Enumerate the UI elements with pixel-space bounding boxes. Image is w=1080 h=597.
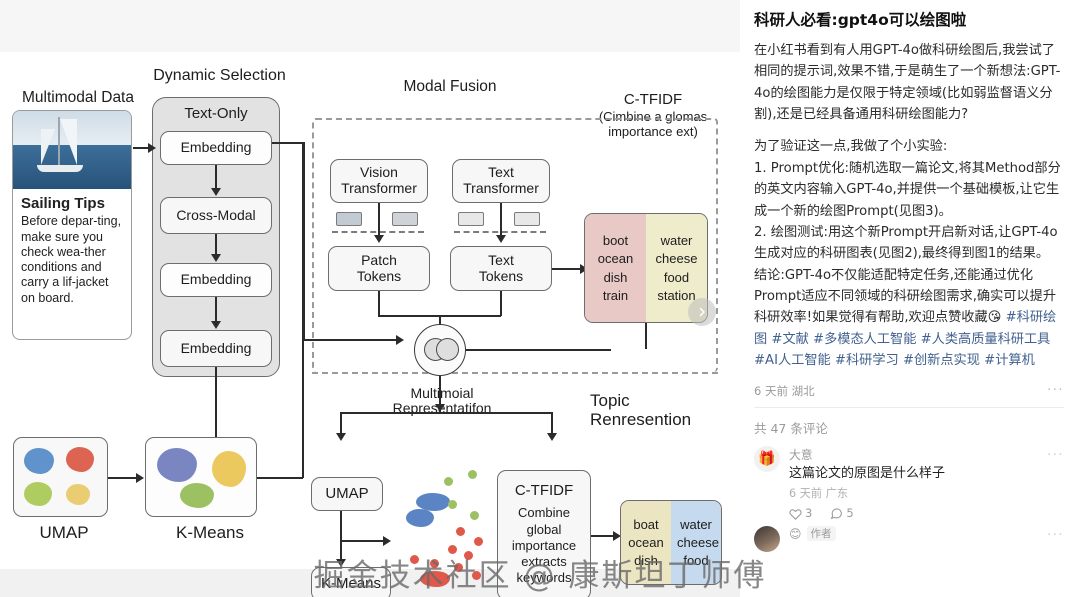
word-top-left-1: ocean [587,250,644,267]
node-text-transformer: Text Transformer [452,159,550,203]
experiment-step-2: 2. 绘图测试:用这个新Prompt开启新对话,让GPT-4o生成对应的科研图表… [754,225,1058,261]
node-cross-modal: Cross-Modal [160,197,272,234]
node-embedding-3: Embedding [160,330,272,367]
hashtag-1[interactable]: #文献 [771,332,808,347]
caption-topic-representation: Topic Renresention [590,392,730,429]
post-body: 在小红书看到有人用GPT-4o做科研绘图后,我尝试了相同的提示词,效果不错,于是… [754,40,1064,372]
post-detail-page: Multimodal Data Dynamic Selection Modal … [0,0,1080,597]
embedding-2-label: Embedding [181,272,252,288]
kmeans-scatter-panel [145,437,257,517]
comment-1-main: 大意 这篇论文的原图是什么样子 6 天前 广东 3 5 [789,446,1064,521]
research-pipeline-figure: Multimodal Data Dynamic Selection Modal … [0,52,740,569]
hashtag-4[interactable]: #AI人工智能 [754,353,831,368]
cluster-point-red-1 [456,527,465,536]
text-only-label: Text-Only [184,106,247,123]
umap-cluster-blue [24,448,54,474]
comment-1-time: 6 天前 [789,487,822,500]
post-title: 科研人必看:gpt4o可以绘图啦 [754,10,1064,31]
vision-transformer-line1: Vision [360,165,398,181]
word-top-left-2: dish [587,269,644,286]
word-table-top-left-column: boot ocean dish train [585,214,646,322]
comment-1-location: 广东 [826,487,848,500]
umap-cluster-green [24,482,52,506]
comment-1-reply-button[interactable]: 5 [830,506,853,520]
node-embedding-2: Embedding [160,263,272,297]
cluster-point-green-1 [444,477,453,486]
caption-multimodal-data: Multimodal Data [8,89,148,106]
umap-cluster-yellow [66,484,90,505]
ctfidf-bottom-title: C-TFIDF [515,483,573,500]
post-meta: 6 天前 湖北 ··· [754,383,1064,399]
gift-icon[interactable]: 🎁 [754,446,780,472]
post-more-button[interactable]: ··· [1047,383,1064,398]
caption-umap-bottom: UMAP [14,524,114,543]
comment-1-like-count: 3 [805,506,812,520]
texttok-down [500,291,502,316]
comment-1-username[interactable]: 大意 [789,446,1064,463]
modal-fusion-dashed-bottom [312,372,718,374]
arrowhead-umap-to-scatter [383,536,391,546]
comment-1-text: 这篇论文的原图是什么样子 [789,465,1064,484]
text-transformer-line2: Transformer [463,181,539,197]
text-token-square-2 [514,212,540,226]
fusion-inner-circle-right [436,338,459,361]
heart-icon [789,507,802,520]
hashtag-5[interactable]: #科研学习 [835,353,899,368]
post-comments-divider [754,407,1064,408]
arrowhead-split-left [336,433,346,441]
post-time: 6 天前 [754,383,788,399]
node-vision-transformer: Vision Transformer [330,159,428,203]
word-top-right-0: water [648,232,705,249]
cluster-point-red-2 [474,537,483,546]
umap-cluster-red [66,447,94,472]
arrow-umappanel-to-kmeanspanel [108,477,139,479]
node-patch-tokens: Patch Tokens [328,246,430,291]
arrow-vision-to-patch [378,203,380,236]
author-badge: 作者 [807,526,836,541]
site-watermark: 掘金技术社区 @ 康斯坦丁师傅 [0,550,1080,595]
embedding-1-label: Embedding [181,140,252,156]
comment-item-1: 🎁 大意 这篇论文的原图是什么样子 6 天前 广东 3 5 [754,446,1064,521]
cross-modal-label: Cross-Modal [176,208,255,224]
word-bottom-left-1: ocean [623,534,669,551]
caption-kmeans-bottom: K-Means [145,524,275,543]
kmeans-blob-purple [157,448,197,482]
text-tokens-line2: Tokens [479,269,523,285]
smile-emoji-icon: 😊 [789,527,802,541]
post-location: 湖北 [792,383,815,399]
kmeans-blobs [146,438,258,518]
fusion-right-line [466,349,611,351]
post-paragraph-1: 在小红书看到有人用GPT-4o做科研绘图后,我尝试了相同的提示词,效果不错,于是… [754,40,1064,126]
branch-emb1-right [272,142,304,144]
word-bottom-right-1: cheese [673,534,719,551]
node-umap-bottom: UMAP [311,477,383,511]
experiment-step-1: 1. Prompt优化:随机选取一篇论文,将其Method部分的英文内容输入GP… [754,161,1061,219]
arrowhead-emb1-cross [211,188,221,196]
kmeans-blob-yellow [212,451,246,487]
ctfidf-top-title: C-TFIDF [578,92,728,109]
sailing-tips-title: Sailing Tips [21,195,124,213]
umap-node-label: UMAP [325,486,368,503]
comments-count-label: 共 47 条评论 [754,418,1064,437]
kiss-emoji: 😘 [988,310,1002,325]
patch-tokens-line1: Patch [361,253,397,269]
arrowhead-bottom-main [435,404,445,412]
patch-tokens-line2: Tokens [357,269,401,285]
topic-rep-line2: Renresention [590,411,730,430]
gift-avatar-glyph: 🎁 [758,451,775,467]
node-embedding-1: Embedding [160,131,272,165]
multimodal-rep-line1: Multimoial [368,386,516,401]
text-tokens-line1: Text [488,253,514,269]
cluster-point-green-2 [468,470,477,479]
hashtag-3[interactable]: #人类高质量科研工具 [921,332,1051,347]
topic-rep-line1: Topic [590,392,730,411]
user-photo-avatar[interactable] [754,526,780,552]
comment-1-subinfo: 6 天前 广东 [789,485,1064,501]
text-token-square-1 [458,212,484,226]
cluster-point-green-4 [470,511,479,520]
text-transformer-line1: Text [488,165,514,181]
word-bottom-left-0: boat [623,516,669,533]
umap-scatter-panel [13,437,108,517]
comment-1-reply-count: 5 [846,506,853,520]
arrowhead-cross-emb2 [211,254,221,262]
hashtag-2[interactable]: #多模态人工智能 [813,332,916,347]
comment-bubble-icon [830,507,843,520]
arrow-text-to-texttokens [500,203,502,236]
kmeans-blob-green [180,483,214,508]
word-top-right-2: food [648,269,705,286]
cluster-blob-blue-2 [406,509,434,527]
arrowhead-split-right [547,433,557,441]
comment-2-username[interactable]: 😊 作者 [789,526,1064,541]
arrowhead-umappanel-to-kmeanspanel [136,473,144,483]
kmeans-right-link [257,477,303,479]
experiment-intro: 为了验证这一点,我做了个小实验: [754,139,947,154]
sailboat-photo [13,111,131,189]
carousel-next-button[interactable] [688,298,716,326]
hashtag-7[interactable]: #计算机 [984,353,1035,368]
cluster-point-green-3 [448,500,457,509]
vision-token-square-2 [392,212,418,226]
arrow-emb1-cross [215,165,217,189]
word-top-left-3: train [587,287,644,304]
comment-1-actions: 3 5 [789,506,1064,520]
post-image-carousel[interactable]: Multimodal Data Dynamic Selection Modal … [0,0,740,597]
vision-token-square-1 [336,212,362,226]
word-top-left-0: boot [587,232,644,249]
arrowhead-emb2-emb3 [211,321,221,329]
chevron-right-icon [696,306,708,318]
caption-modal-fusion: Modal Fusion [375,78,525,95]
kmeans-right-up [302,142,304,478]
post-paragraph-2: 为了验证这一点,我做了个小实验: 1. Prompt优化:随机选取一篇论文,将其… [754,136,1064,371]
arrowhead-card-to-embedding [148,143,156,153]
vision-transformer-line2: Transformer [341,181,417,197]
comment-item-2: 😊 作者 ··· [754,526,1064,552]
bottom-split [340,412,552,414]
post-content-panel: 科研人必看:gpt4o可以绘图啦 在小红书看到有人用GPT-4o做科研绘图后,我… [740,0,1080,597]
sailing-tips-body: Before depar-ting, make sure you check w… [21,214,121,304]
comment-1-more-button[interactable]: ··· [1047,448,1064,463]
arrowhead-text-to-texttokens [496,235,506,243]
embedding-3-label: Embedding [181,341,252,357]
comment-2-main: 😊 作者 [789,526,1064,552]
arrowhead-vision-to-patch [374,235,384,243]
node-text-tokens: Text Tokens [450,246,552,291]
multimodal-data-card: Sailing Tips Before depar-ting, make sur… [12,110,132,340]
word-top-right-1: cheese [648,250,705,267]
sailing-tips-text: Sailing Tips Before depar-ting, make sur… [13,189,131,313]
umap-scatter-points [14,438,109,518]
comment-1-like-button[interactable]: 3 [789,506,812,520]
arrow-umap-to-scatter [340,540,386,542]
patch-down [378,291,380,316]
comment-2-more-button[interactable]: ··· [1047,528,1064,543]
word-bottom-right-0: water [673,516,719,533]
caption-dynamic-selection: Dynamic Selection [132,67,307,85]
hashtag-6[interactable]: #创新点实现 [903,353,980,368]
arrow-emb2-emb3 [215,297,217,322]
carousel-top-band [0,0,740,52]
arrow-cross-emb2 [215,234,217,255]
ctfidf-top-down-line [645,323,647,349]
